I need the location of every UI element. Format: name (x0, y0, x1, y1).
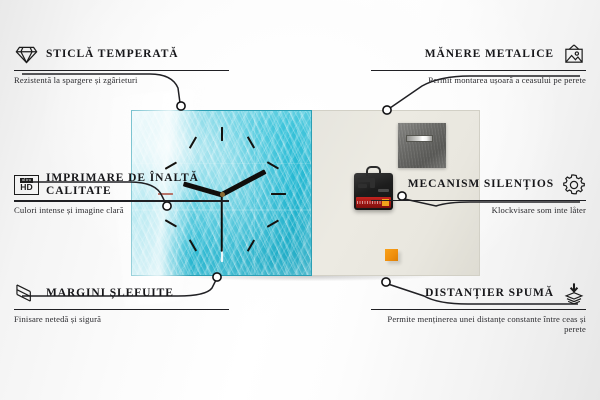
callout-divider (371, 200, 586, 201)
hanger-slot (406, 135, 433, 142)
callout-divider (14, 200, 229, 201)
infographic-canvas: STICLĂ TEMPERATĂ Rezistentă la spargere … (0, 0, 600, 400)
callout-subtitle: Permit montarea ușoară a ceasului pe per… (371, 75, 586, 85)
callout-divider (371, 309, 586, 310)
tick-2 (267, 162, 279, 170)
framed-picture-hanging-icon (561, 42, 586, 67)
tick-11 (189, 136, 197, 148)
callout-subtitle: Finisare netedă și sigură (14, 314, 229, 324)
arrow-into-stack-icon (561, 281, 586, 306)
callout-title: STICLĂ TEMPERATĂ (46, 48, 179, 61)
callout-silent-mechanism: MECANISM SILENȚIOS Klockvisare som inte … (371, 172, 586, 215)
tick-8 (165, 220, 177, 228)
callout-metal-handles: MĂNERE METALICE Permit montarea ușoară a… (371, 42, 586, 85)
callout-title: MECANISM SILENȚIOS (408, 178, 554, 191)
tick-10 (165, 162, 177, 170)
callout-high-quality-print: ultra HD IMPRIMARE DE ÎNALTĂ CALITATE Cu… (14, 172, 229, 215)
gear-icon (561, 172, 586, 197)
tick-3 (271, 193, 286, 195)
callout-foam-spacer: DISTANȚIER SPUMĂ Permite menținerea unei… (371, 281, 586, 335)
callout-subtitle: Klockvisare som inte låter (371, 205, 586, 215)
callout-divider (371, 70, 586, 71)
callout-title: MĂNERE METALICE (425, 48, 554, 61)
metal-hanger-plate (398, 123, 446, 168)
callout-tempered-glass: STICLĂ TEMPERATĂ Rezistentă la spargere … (14, 42, 229, 85)
callout-subtitle: Rezistentă la spargere și zgârieturi (14, 75, 229, 85)
mechanism-detail (358, 184, 367, 188)
diagonal-lines-icon (14, 281, 39, 306)
tick-7 (189, 239, 197, 251)
callout-polished-edges: MARGINI ȘLEFUITE Finisare netedă și sigu… (14, 281, 229, 324)
callout-divider (14, 309, 229, 310)
callout-subtitle: Culori intense și imagine clară (14, 205, 229, 215)
callout-title: IMPRIMARE DE ÎNALTĂ CALITATE (46, 172, 229, 197)
diamond-icon (14, 42, 39, 67)
tick-12 (221, 127, 223, 141)
tick-1 (247, 136, 255, 148)
callout-divider (14, 70, 229, 71)
foam-spacer (385, 249, 398, 261)
tick-4 (267, 220, 279, 228)
ultra-hd-badge-icon: ultra HD (14, 172, 39, 197)
tick-5 (247, 239, 255, 251)
hd-label: HD (20, 183, 32, 192)
callout-subtitle: Permite menținerea unei distanțe constan… (371, 314, 586, 335)
callout-title: MARGINI ȘLEFUITE (46, 287, 174, 300)
callout-title: DISTANȚIER SPUMĂ (425, 287, 554, 300)
